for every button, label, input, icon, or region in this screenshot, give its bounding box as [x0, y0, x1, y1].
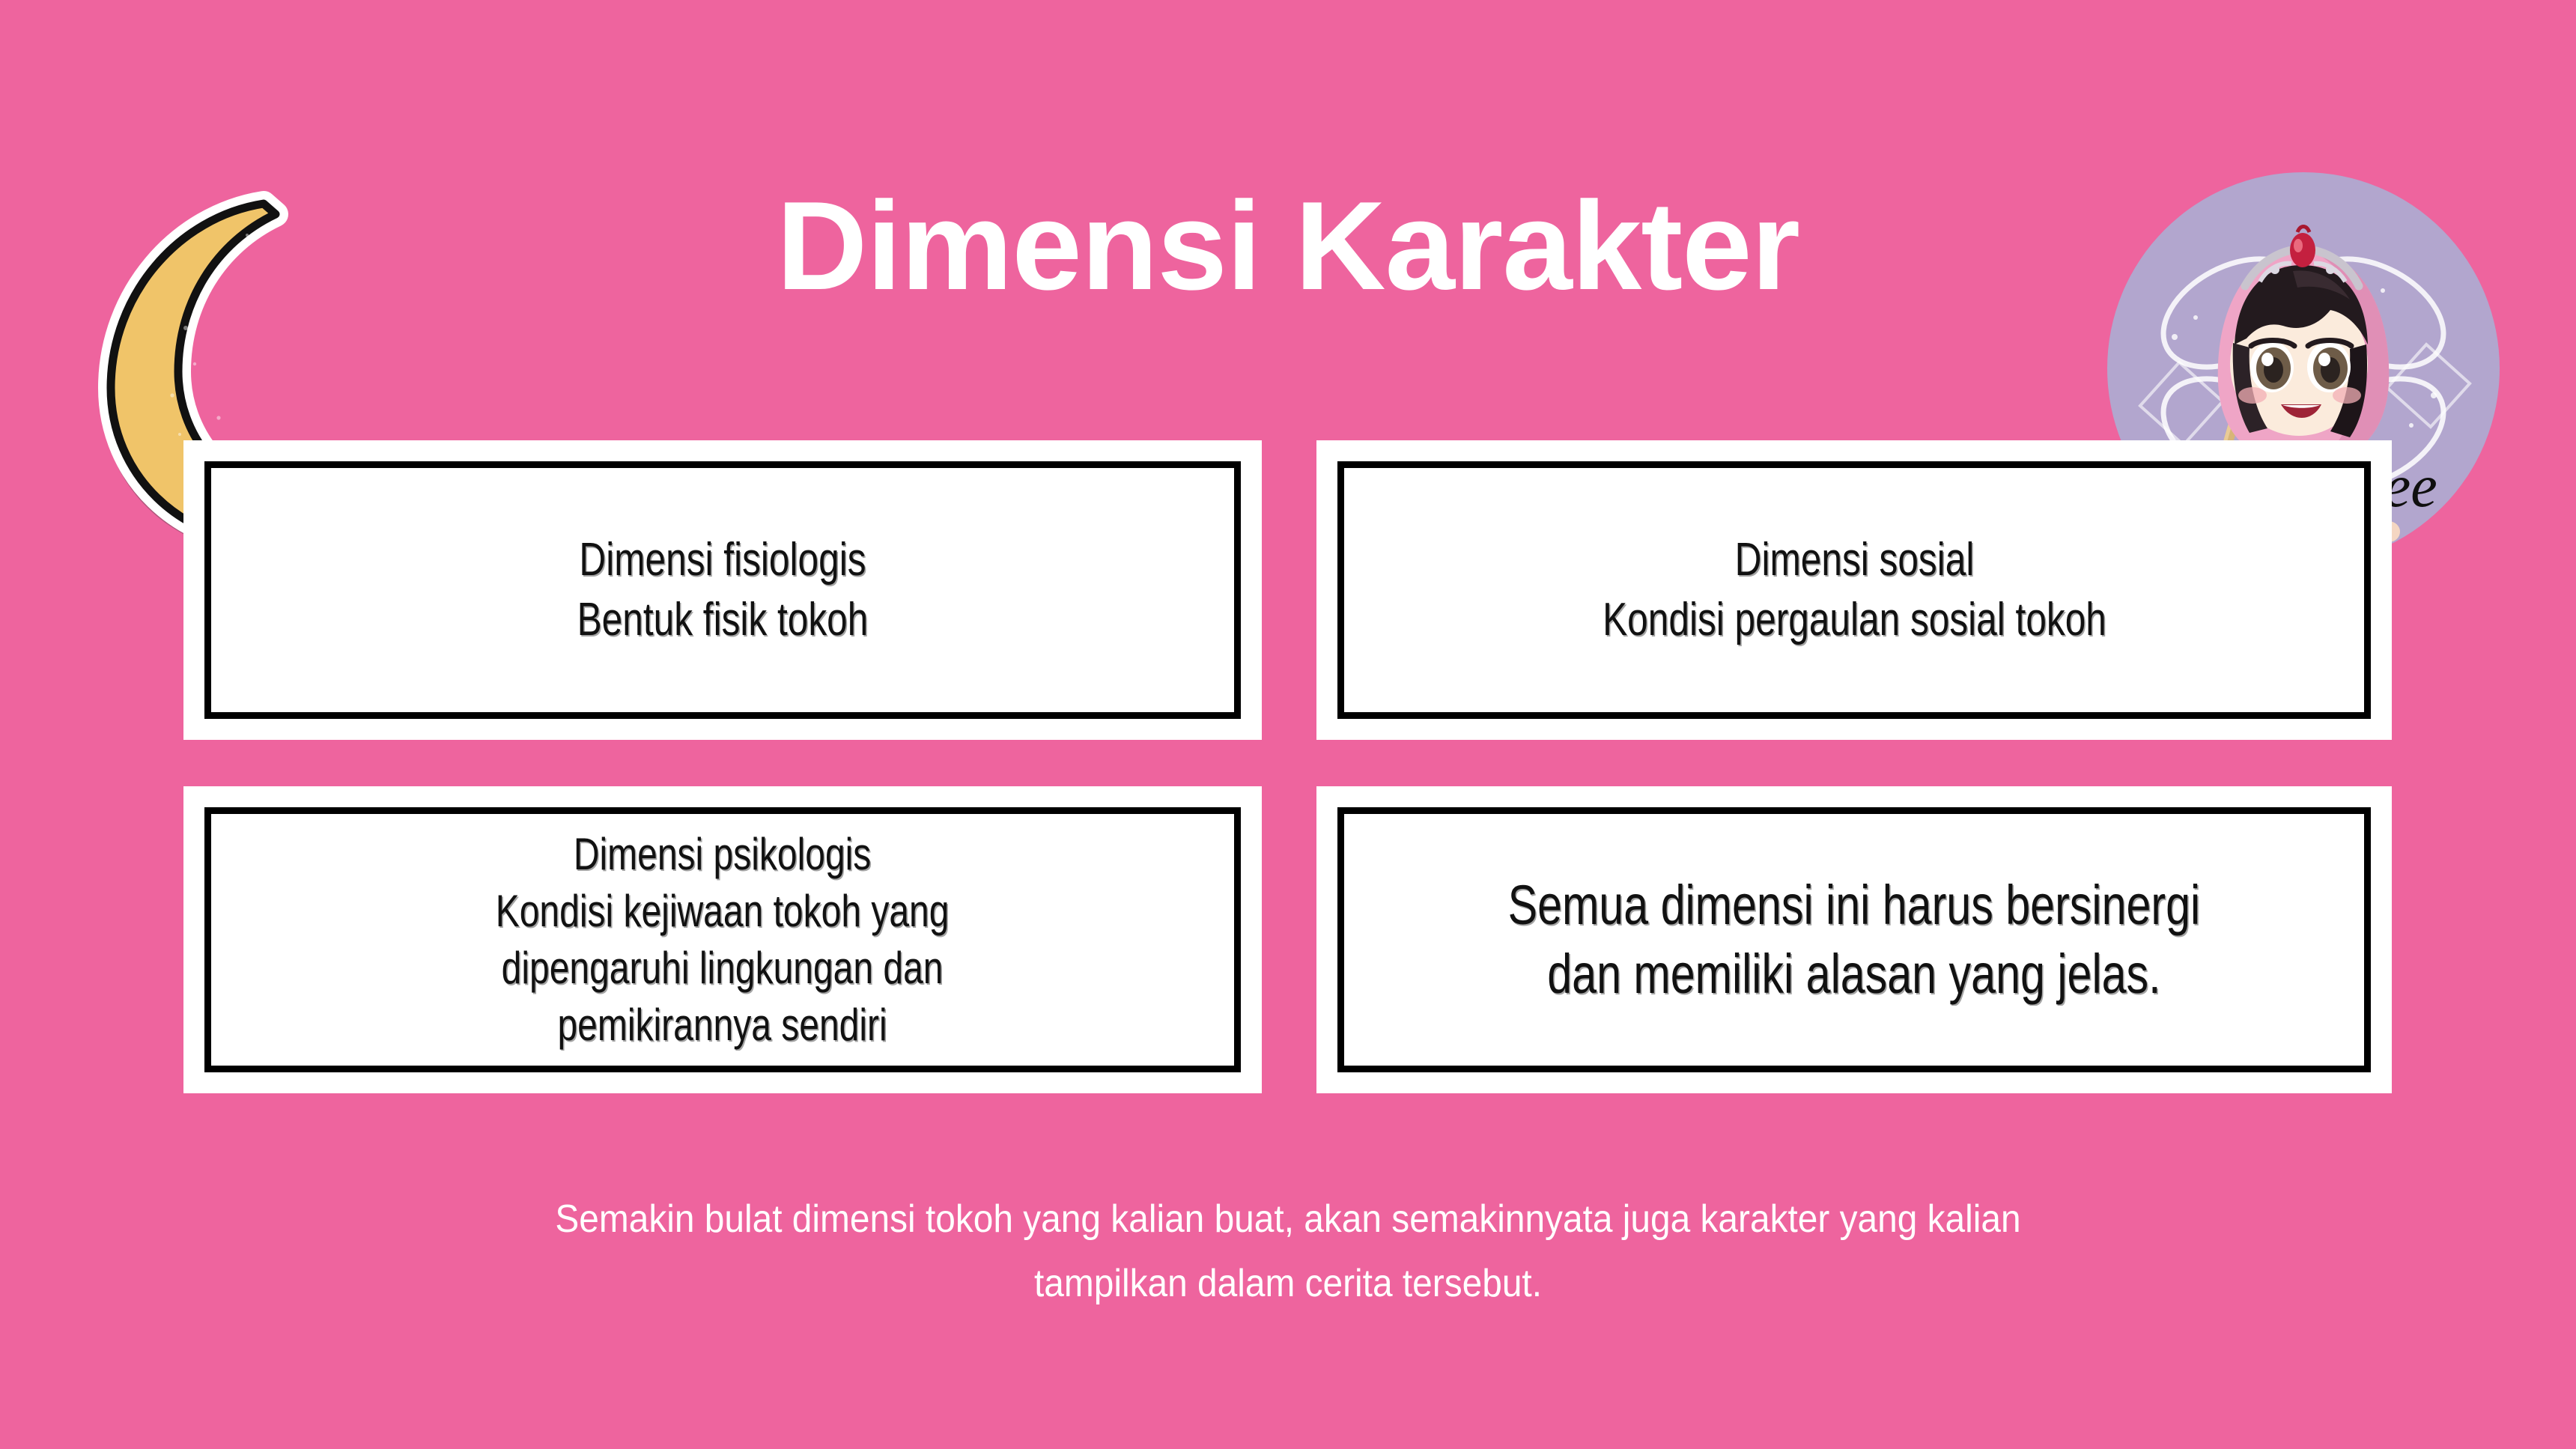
- card-line: Dimensi sosial: [1603, 530, 2106, 590]
- card-inner-border: Dimensi psikologis Kondisi kejiwaan toko…: [204, 807, 1241, 1072]
- card-text-block: Dimensi fisiologis Bentuk fisik tokoh: [577, 530, 869, 650]
- card-line: Kondisi pergaulan sosial tokoh: [1603, 590, 2106, 650]
- card-dimensi-psikologis: Dimensi psikologis Kondisi kejiwaan toko…: [183, 786, 1262, 1093]
- card-line: Dimensi psikologis: [496, 826, 950, 883]
- card-line: Kondisi kejiwaan tokoh yang: [496, 883, 950, 940]
- card-inner-border: Dimensi sosial Kondisi pergaulan sosial …: [1337, 461, 2371, 719]
- card-line: Semua dimensi ini harus bersinergi: [1508, 871, 2201, 940]
- card-dimensi-fisiologis: Dimensi fisiologis Bentuk fisik tokoh: [183, 440, 1262, 740]
- caption-line: Semakin bulat dimensi tokoh yang kalian …: [323, 1187, 2253, 1251]
- card-text-block: Dimensi psikologis Kondisi kejiwaan toko…: [496, 826, 950, 1054]
- slide-canvas: Dimensi Karakter: [0, 0, 2576, 1449]
- caption-line: tampilkan dalam cerita tersebut.: [323, 1251, 2253, 1316]
- card-line: dan memiliki alasan yang jelas.: [1508, 940, 2201, 1009]
- card-inner-border: Semua dimensi ini harus bersinergi dan m…: [1337, 807, 2371, 1072]
- card-line: pemikirannya sendiri: [496, 997, 950, 1054]
- slide-caption: Semakin bulat dimensi tokoh yang kalian …: [323, 1187, 2253, 1316]
- card-inner-border: Dimensi fisiologis Bentuk fisik tokoh: [204, 461, 1241, 719]
- card-line: Dimensi fisiologis: [577, 530, 869, 590]
- card-text-block: Semua dimensi ini harus bersinergi dan m…: [1508, 871, 2201, 1009]
- card-text-block: Dimensi sosial Kondisi pergaulan sosial …: [1603, 530, 2106, 650]
- card-line: Bentuk fisik tokoh: [577, 590, 869, 650]
- card-sinergi: Semua dimensi ini harus bersinergi dan m…: [1316, 786, 2392, 1093]
- card-line: dipengaruhi lingkungan dan: [496, 940, 950, 997]
- card-dimensi-sosial: Dimensi sosial Kondisi pergaulan sosial …: [1316, 440, 2392, 740]
